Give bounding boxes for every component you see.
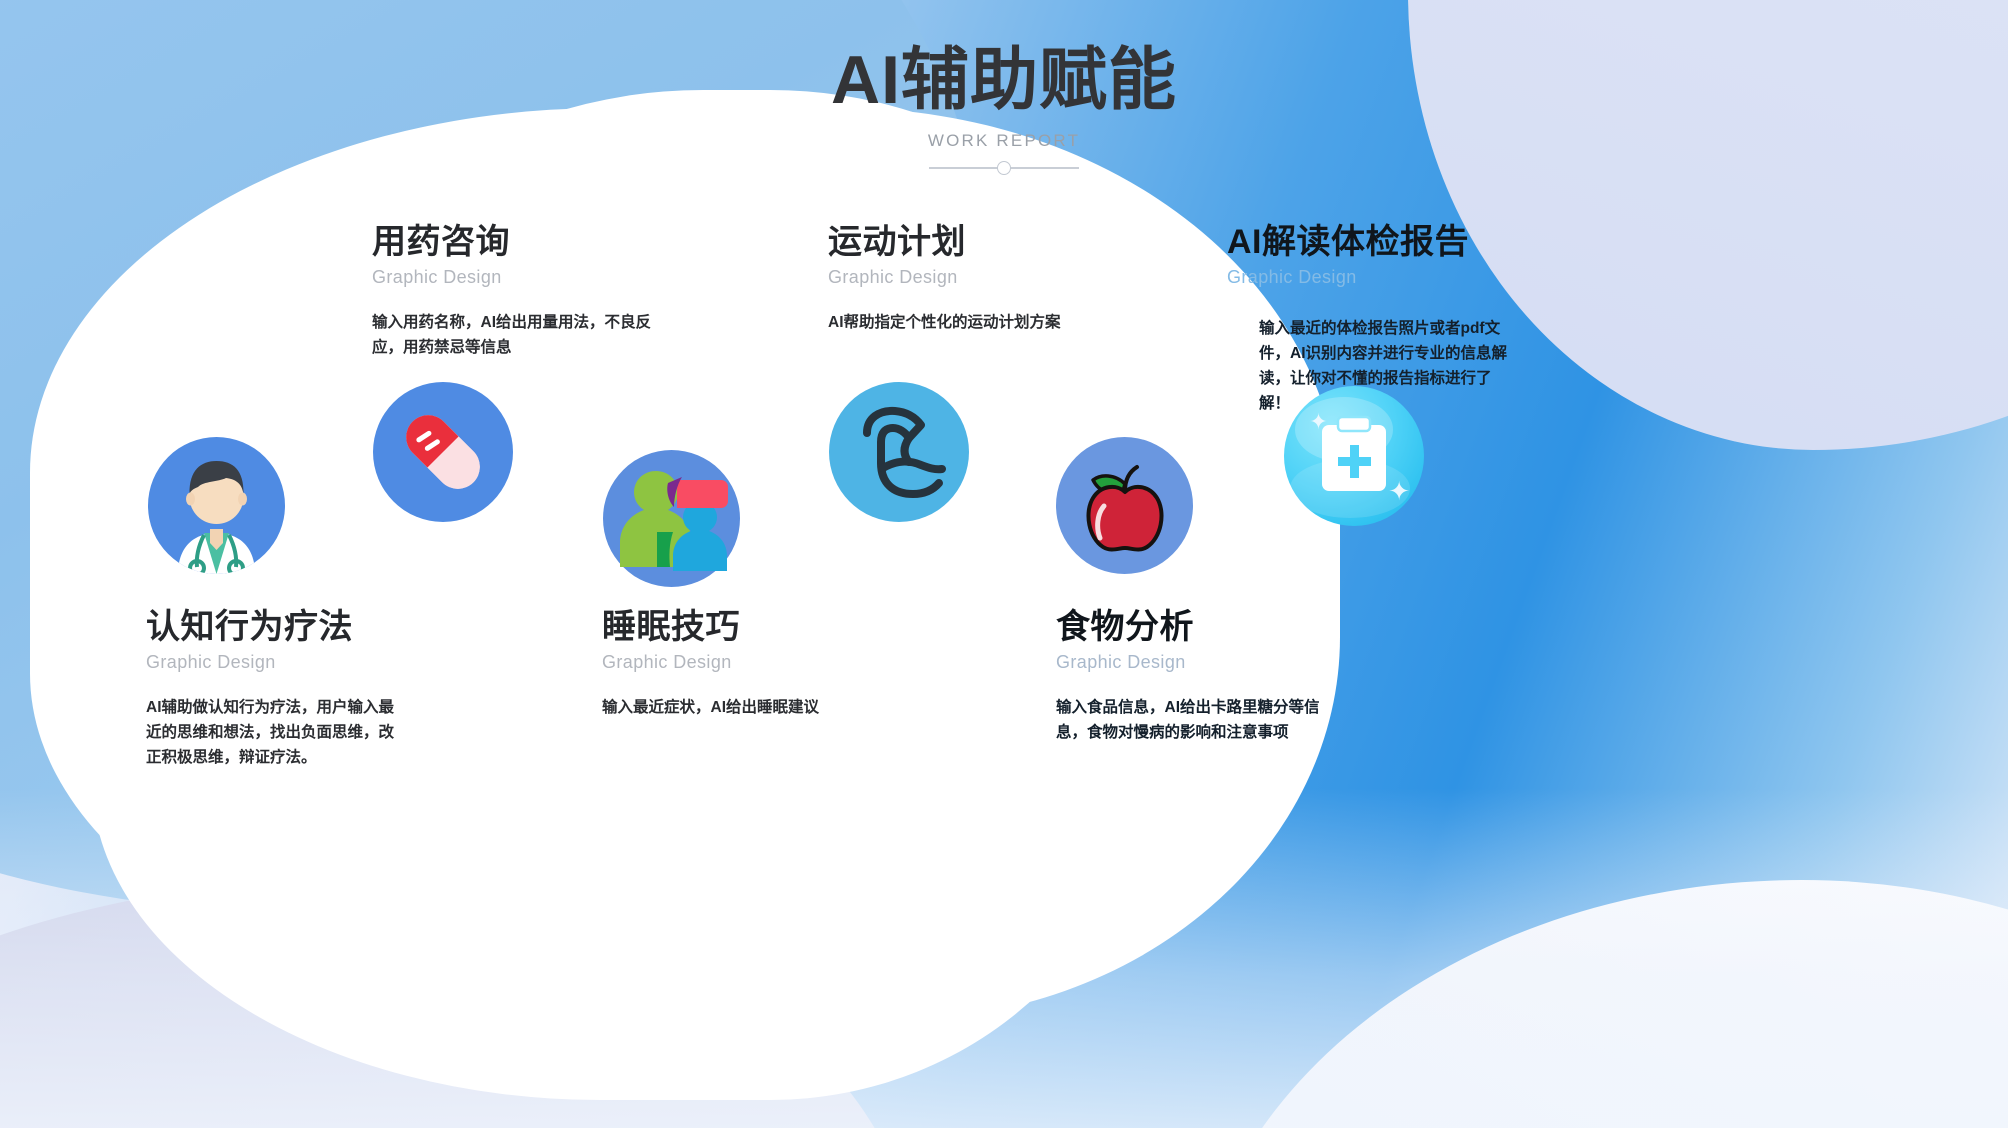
red-apple-icon xyxy=(1079,458,1171,554)
header-divider xyxy=(929,161,1079,175)
card-sleep-tips: 睡眠技巧 Graphic Design 输入最近症状，AI给出睡眠建议 xyxy=(602,607,852,720)
flexed-bicep-circle[interactable] xyxy=(829,382,969,522)
card-subtitle: Graphic Design xyxy=(1056,652,1326,673)
card-cognitive-behavioral-therapy: 认知行为疗法 Graphic Design AI辅助做认知行为疗法，用户输入最近… xyxy=(146,607,408,770)
doctor-avatar-circle[interactable] xyxy=(148,437,285,574)
doctor-avatar-icon xyxy=(148,437,285,574)
card-description: AI帮助指定个性化的运动计划方案 xyxy=(828,310,1088,335)
people-conversation-circle[interactable] xyxy=(603,450,740,587)
card-medication-consult: 用药咨询 Graphic Design 输入用药名称，AI给出用量用法，不良反应… xyxy=(372,222,652,360)
card-description: 输入最近的体检报告照片或者pdf文件，AI识别内容并进行专业的信息解读，让你对不… xyxy=(1259,316,1511,416)
card-description: 输入食品信息，AI给出卡路里糖分等信息，食物对慢病的影响和注意事项 xyxy=(1056,695,1326,745)
page-subtitle: WORK REPORT xyxy=(0,131,2008,151)
card-subtitle: Graphic Design xyxy=(146,652,408,673)
card-subtitle: Graphic Design xyxy=(1227,267,1511,288)
card-exercise-plan: 运动计划 Graphic Design AI帮助指定个性化的运动计划方案 xyxy=(828,222,1088,335)
card-title: 运动计划 xyxy=(828,222,1088,262)
card-food-analysis: 食物分析 Graphic Design 输入食品信息，AI给出卡路里糖分等信息，… xyxy=(1056,607,1326,745)
presentation-slide: AI辅助赋能 WORK REPORT xyxy=(0,0,2008,1128)
card-subtitle: Graphic Design xyxy=(602,652,852,673)
sparkle-icon-bottom: ✦ xyxy=(1388,478,1410,504)
card-description: AI辅助做认知行为疗法，用户输入最近的思维和想法，找出负面思维，改正积极思维，辩… xyxy=(146,695,408,770)
page-title: AI辅助赋能 xyxy=(0,44,2008,117)
card-title: 用药咨询 xyxy=(372,222,652,262)
card-title: 食物分析 xyxy=(1056,607,1326,647)
card-description: 输入用药名称，AI给出用量用法，不良反应，用药禁忌等信息 xyxy=(372,310,652,360)
flexed-bicep-icon xyxy=(843,400,955,504)
card-title: AI解读体检报告 xyxy=(1227,222,1511,262)
card-title: 认知行为疗法 xyxy=(146,607,408,647)
pill-capsule-circle[interactable] xyxy=(373,382,513,522)
slide-header: AI辅助赋能 WORK REPORT xyxy=(0,44,2008,175)
card-description: 输入最近症状，AI给出睡眠建议 xyxy=(602,695,852,720)
card-title: 睡眠技巧 xyxy=(602,607,852,647)
card-ai-health-report: AI解读体检报告 Graphic Design 输入最近的体检报告照片或者pdf… xyxy=(1227,222,1511,417)
card-subtitle: Graphic Design xyxy=(828,267,1088,288)
divider-dot xyxy=(997,161,1011,175)
pill-capsule-icon xyxy=(388,397,498,507)
people-conversation-icon xyxy=(616,467,728,571)
card-subtitle: Graphic Design xyxy=(372,267,652,288)
red-apple-circle[interactable] xyxy=(1056,437,1193,574)
